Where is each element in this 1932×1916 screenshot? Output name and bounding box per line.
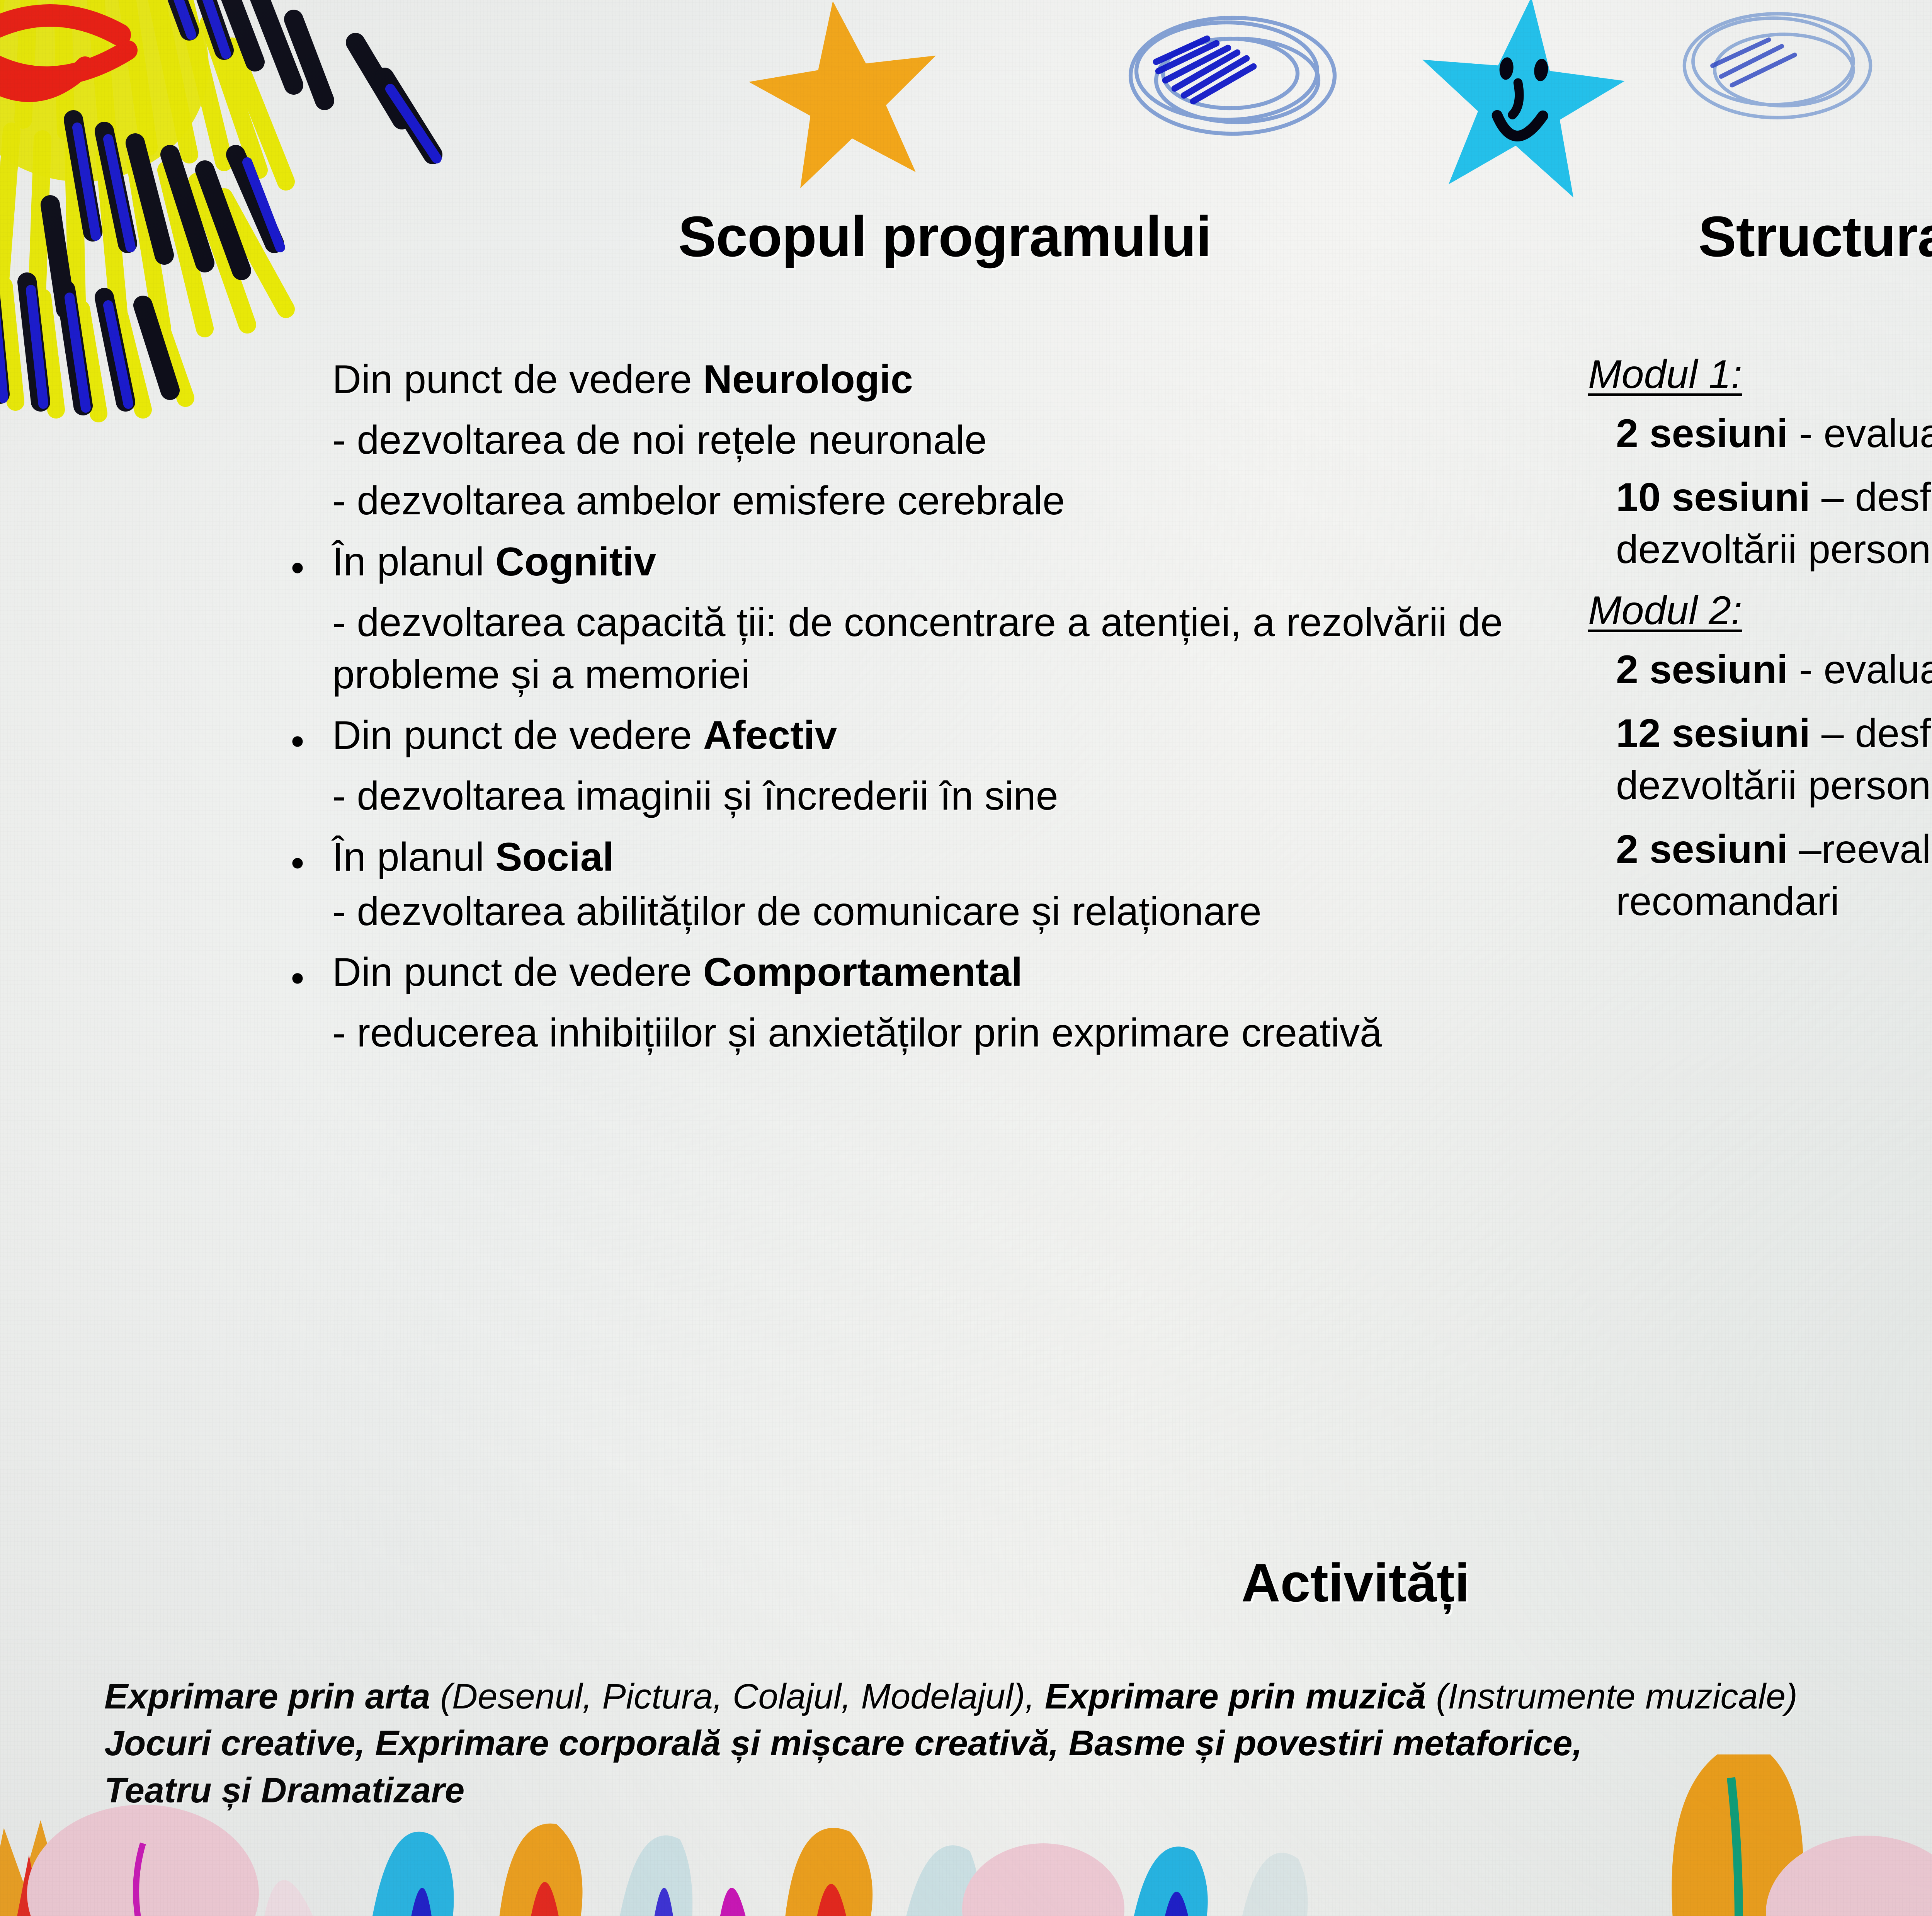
list-item-text: În planul Social — [332, 831, 614, 883]
modul-1-heading: Modul 1: — [1588, 352, 1932, 398]
activities-line: Exprimare prin arta (Desenul, Pictura, C… — [104, 1673, 1932, 1720]
structura-programului-column: Modul 1: 2 sesiuni - evaluarea nivelului… — [1588, 352, 1932, 940]
list-item-text: - dezvoltarea capacită ții: de concentra… — [332, 597, 1546, 701]
modul-2-item: 2 sesiuni - evaluarea nivelului de dezvo… — [1616, 644, 1932, 696]
page-title-scop: Scopul programului — [678, 204, 1211, 270]
crayon-scribble-cloud-icon — [1669, 0, 1886, 131]
crayon-scribble-cloud-icon — [1113, 4, 1352, 143]
list-item: • Din punct de vedere Comportamental — [263, 946, 1546, 1007]
presentation-slide: Scopul programului Structura programului… — [0, 0, 1932, 1916]
page-title-structura: Structura programului — [1698, 204, 1932, 270]
list-item-text: Din punct de vedere Neurologic — [332, 354, 913, 406]
scop-programului-column: • Din punct de vedere Neurologic - dezvo… — [263, 354, 1546, 1068]
list-item: • Din punct de vedere Afectiv — [263, 710, 1546, 770]
list-item-text: - dezvoltarea de noi rețele neuronale — [332, 414, 1546, 466]
activities-list: Exprimare prin arta (Desenul, Pictura, C… — [104, 1673, 1932, 1814]
activities-line: Teatru și Dramatizare — [104, 1767, 1932, 1814]
modul-1-item: 10 sesiuni – desfășurarea grupurilor de … — [1616, 471, 1932, 576]
bullet-icon: • — [263, 710, 332, 761]
modul-2-item: 12 sesiuni – desfășurarea grupurilor de … — [1616, 708, 1932, 812]
list-item-text: - dezvoltarea ambelor emisfere cerebrale — [332, 475, 1546, 527]
modul-1-item: 2 sesiuni - evaluarea nivelului de dezvo… — [1616, 408, 1932, 460]
orange-paper-star-icon — [746, 0, 947, 197]
bullet-icon: • — [263, 946, 332, 997]
list-item-text: În planul Cognitiv — [332, 536, 656, 588]
activities-line: Jocuri creative, Exprimare corporală și … — [104, 1720, 1932, 1767]
modul-2-heading: Modul 2: — [1588, 588, 1932, 634]
cyan-smiley-star-icon — [1406, 0, 1634, 209]
list-item-text: - dezvoltarea abilităților de comunicare… — [332, 886, 1546, 938]
bullet-icon: • — [263, 831, 332, 882]
list-item-text: - reducerea inhibițiilor și anxietăților… — [332, 1007, 1546, 1059]
list-item-text: Din punct de vedere Afectiv — [332, 710, 837, 762]
list-item: • În planul Cognitiv — [263, 536, 1546, 597]
list-item: • În planul Social — [263, 831, 1546, 892]
page-title-activitati: Activități — [0, 1552, 1932, 1614]
list-item-text: - dezvoltarea imaginii și încrederii în … — [332, 770, 1546, 822]
list-item: • Din punct de vedere Neurologic — [263, 354, 1546, 414]
bullet-icon: • — [263, 536, 332, 587]
list-item-text: Din punct de vedere Comportamental — [332, 946, 1022, 999]
modul-2-item: 2 sesiuni –reevaluarea finala si comunic… — [1616, 824, 1932, 928]
